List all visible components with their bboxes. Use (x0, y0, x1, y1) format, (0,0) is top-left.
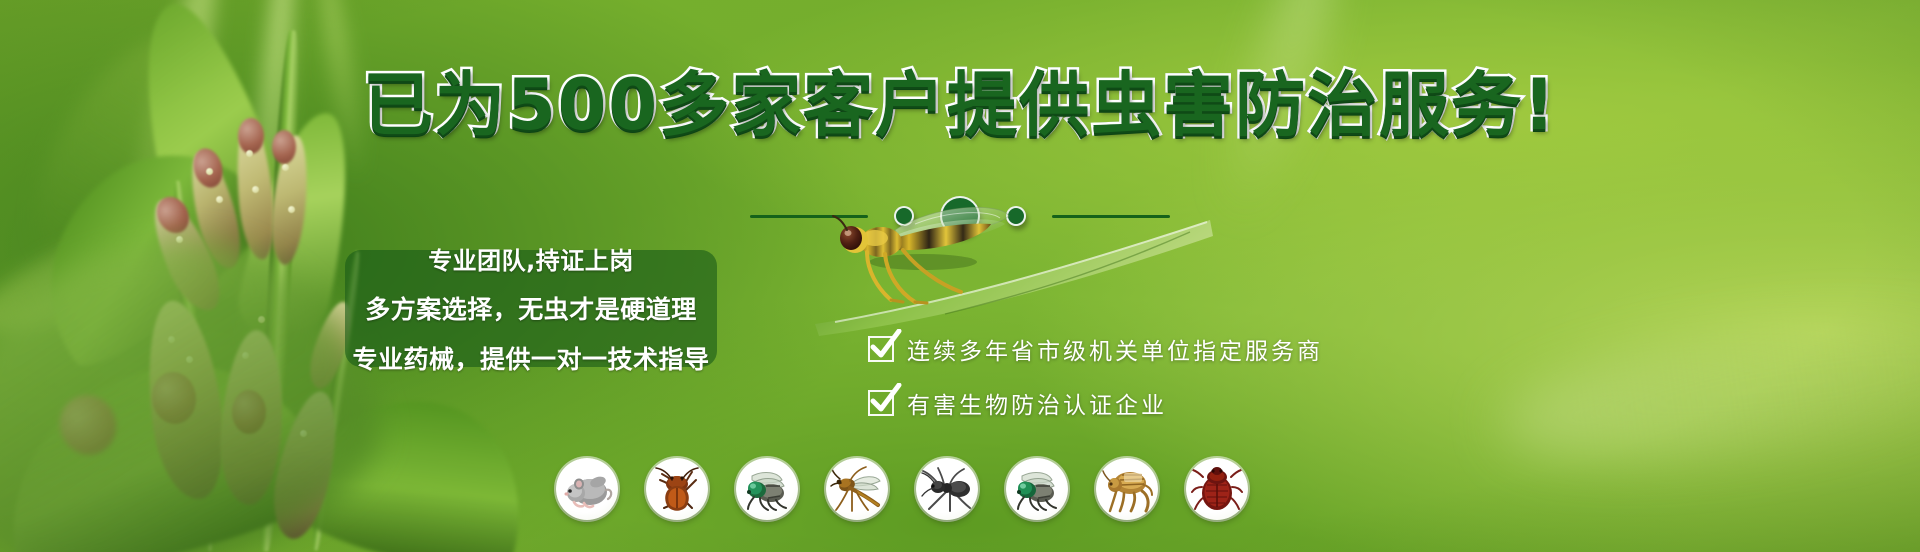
claim-line-1: 专业团队,持证上岗 (428, 241, 634, 276)
pest-control-banner: 已为500多家客户提供虫害防治服务! 专业团队,持证上岗 多方案选择，无虫才是硬… (0, 0, 1920, 552)
bud-speck (282, 164, 289, 171)
bud-speck (246, 150, 253, 157)
mosquito-icon[interactable] (826, 458, 888, 520)
claim-line-2: 多方案选择，无虫才是硬道理 (365, 290, 697, 326)
greenfly-icon[interactable] (1006, 458, 1068, 520)
list-item: 连续多年省市级机关单位指定服务商 (868, 332, 1323, 366)
bud-speck (252, 186, 259, 193)
cockroach-icon[interactable] (646, 458, 708, 520)
ant-icon[interactable] (916, 458, 978, 520)
pest-icon-row (556, 458, 1248, 520)
checkbox-checked-icon (868, 390, 894, 416)
flea-icon[interactable] (1096, 458, 1158, 520)
mouse-icon[interactable] (556, 458, 618, 520)
bud-speck (206, 168, 213, 175)
certification-list: 连续多年省市级机关单位指定服务商 有害生物防治认证企业 (868, 332, 1323, 420)
hoverfly-decoration (795, 196, 1215, 346)
page-title: 已为500多家客户提供虫害防治服务! (0, 70, 1920, 140)
certification-text: 有害生物防治认证企业 (907, 386, 1167, 420)
claim-line-3: 专业药械，提供一对一技术指导 (352, 340, 709, 376)
page-title-text: 已为500多家客户提供虫害防治服务! (363, 64, 1557, 146)
hoverfly-icon (795, 196, 1215, 346)
housefly-icon[interactable] (736, 458, 798, 520)
list-item: 有害生物防治认证企业 (868, 386, 1323, 420)
checkbox-checked-icon (868, 336, 894, 362)
claims-panel: 专业团队,持证上岗 多方案选择，无虫才是硬道理 专业药械，提供一对一技术指导 (345, 250, 717, 367)
certification-text: 连续多年省市级机关单位指定服务商 (907, 332, 1323, 366)
bedbug-icon[interactable] (1186, 458, 1248, 520)
